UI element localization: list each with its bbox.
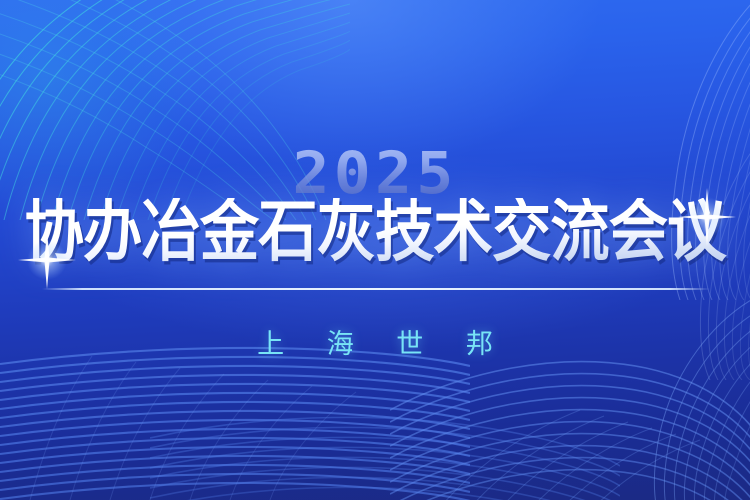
page-title: 协办冶金石灰技术交流会议 [4, 198, 747, 266]
subtitle-company-name: 上 海 世 邦 [0, 322, 750, 361]
title-divider [42, 288, 710, 290]
conference-poster: 2025 协办冶金石灰技术交流会议 上 海 世 邦 [0, 0, 750, 500]
poster-content: 2025 协办冶金石灰技术交流会议 上 海 世 邦 [0, 0, 750, 500]
